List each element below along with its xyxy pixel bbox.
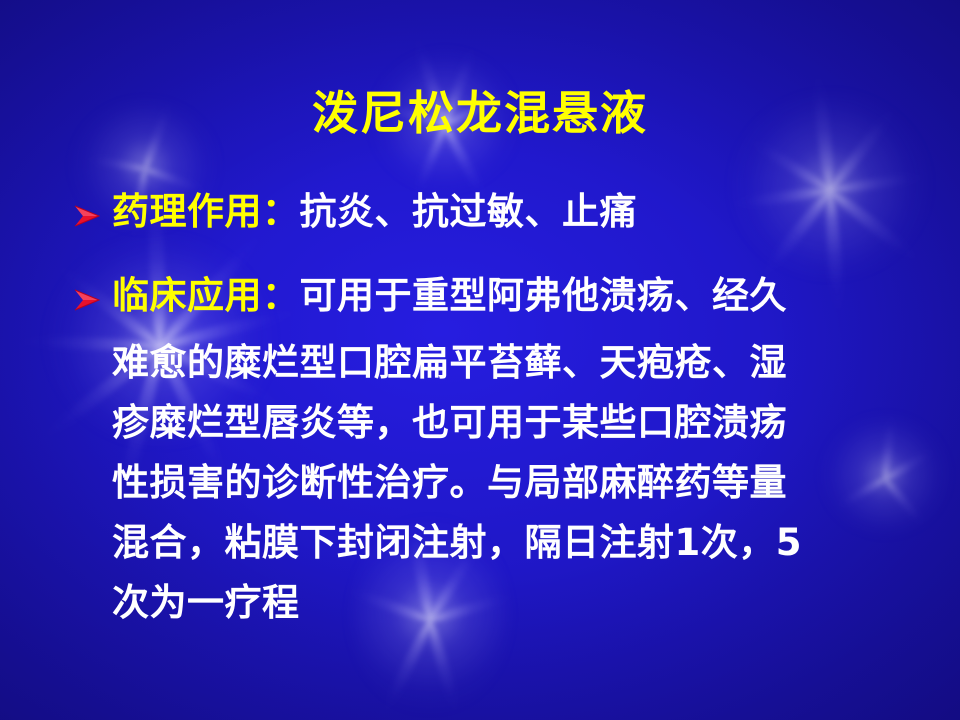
bullet-label-pharmacology: 药理作用： [112, 190, 300, 233]
bullet-text-clinical-use: 可用于重型阿弗他溃疡、经久 [300, 274, 788, 317]
arrow-bullet-icon [74, 204, 100, 228]
bullet-text-pharmacology: 抗炎、抗过敏、止痛 [300, 190, 638, 233]
arrow-bullet-icon [74, 288, 100, 312]
body-line-3: 性损害的诊断性治疗。与局部麻醉药等量 [0, 453, 960, 513]
body-line-4: 混合，粘膜下封闭注射，隔日注射1次，5 [0, 513, 960, 573]
bullet-item-clinical-use: 临床应用：可用于重型阿弗他溃疡、经久 [0, 266, 960, 333]
presentation-slide: 泼尼松龙混悬液 药理作用：抗炎、抗过敏、止痛 临床应用：可用于重型阿弗他溃疡、经… [0, 0, 960, 720]
slide-title: 泼尼松龙混悬液 [0, 88, 960, 140]
bullet-item-pharmacology: 药理作用：抗炎、抗过敏、止痛 [0, 182, 960, 249]
slide-content: 泼尼松龙混悬液 药理作用：抗炎、抗过敏、止痛 临床应用：可用于重型阿弗他溃疡、经… [0, 0, 960, 720]
slide-body: 药理作用：抗炎、抗过敏、止痛 临床应用：可用于重型阿弗他溃疡、经久 难愈的糜烂型… [0, 182, 960, 633]
body-line-1: 难愈的糜烂型口腔扁平苔藓、天疱疮、湿 [0, 333, 960, 393]
body-line-2: 疹糜烂型唇炎等，也可用于某些口腔溃疡 [0, 393, 960, 453]
bullet-label-clinical-use: 临床应用： [112, 274, 300, 317]
body-line-5: 次为一疗程 [0, 573, 960, 633]
